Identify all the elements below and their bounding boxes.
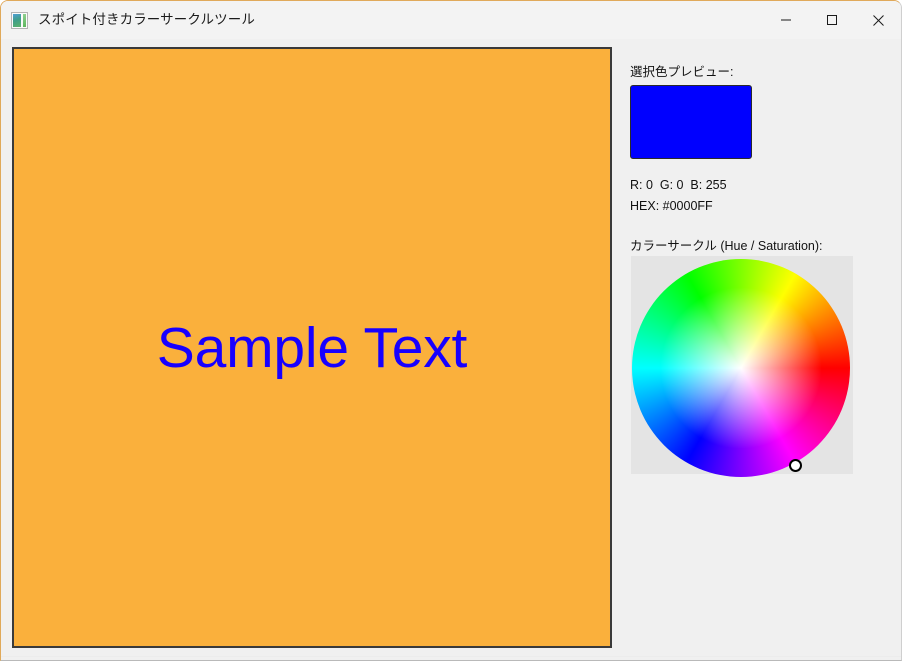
window-bottom-edge bbox=[1, 656, 901, 660]
selected-color-swatch bbox=[630, 85, 752, 159]
image-canvas[interactable]: Sample Text bbox=[12, 47, 612, 648]
maximize-button[interactable] bbox=[809, 1, 855, 39]
preview-label: 選択色プレビュー: bbox=[630, 61, 733, 80]
window-title: スポイト付きカラーサークルツール bbox=[38, 1, 255, 39]
color-wheel[interactable] bbox=[632, 259, 850, 477]
application-window: スポイト付きカラーサークルツール Sample Text 選択色プレビュー: R… bbox=[0, 0, 902, 661]
minimize-icon bbox=[780, 14, 792, 26]
close-button[interactable] bbox=[855, 1, 901, 39]
sample-text: Sample Text bbox=[14, 49, 610, 646]
rgb-value-text: R: 0 G: 0 B: 255 bbox=[630, 178, 727, 192]
maximize-icon bbox=[826, 14, 838, 26]
side-panel: 選択色プレビュー: R: 0 G: 0 B: 255 HEX: #0000FF … bbox=[629, 47, 891, 648]
icon-accent-bar bbox=[23, 14, 26, 27]
icon-gradient-shape bbox=[13, 14, 21, 27]
color-wheel-container[interactable] bbox=[631, 256, 853, 474]
close-icon bbox=[872, 14, 885, 27]
color-wheel-label: カラーサークル (Hue / Saturation): bbox=[630, 235, 822, 254]
minimize-button[interactable] bbox=[763, 1, 809, 39]
picture-gradient-icon bbox=[11, 12, 28, 29]
hex-value-text: HEX: #0000FF bbox=[630, 199, 713, 213]
window-controls bbox=[763, 1, 901, 39]
hue-saturation-marker[interactable] bbox=[789, 459, 802, 472]
